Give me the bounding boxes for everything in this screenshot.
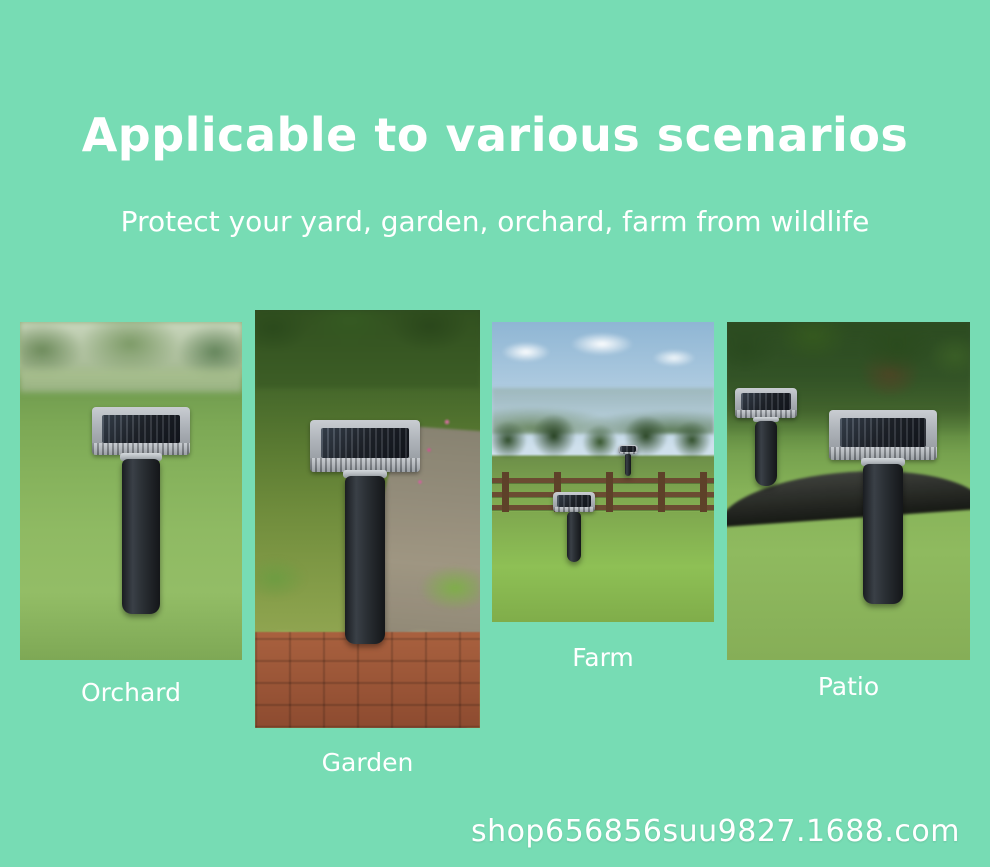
caption-orchard: Orchard [20, 678, 242, 707]
solar-repeller-device-far [618, 445, 638, 479]
solar-panel-head [618, 445, 638, 454]
solar-repeller-device [310, 420, 420, 670]
solar-panel-head [553, 492, 595, 512]
caption-garden: Garden [255, 748, 480, 777]
solar-cell [321, 428, 409, 458]
farm-paddock [492, 512, 714, 622]
farm-treeline [492, 408, 714, 466]
solar-cell [102, 415, 180, 443]
scenario-image-orchard [20, 322, 242, 660]
scenario-image-garden [255, 310, 480, 728]
caption-farm: Farm [492, 643, 714, 672]
solar-repeller-device-back [735, 388, 797, 518]
device-stake-body [625, 454, 631, 476]
fence-rail [492, 478, 714, 483]
garden-hedge [255, 310, 480, 388]
device-stake-body [863, 464, 903, 604]
scenario-image-patio [727, 322, 970, 660]
fence-post [502, 472, 509, 514]
device-stake-body [567, 512, 581, 562]
solar-repeller-device [92, 407, 190, 652]
page-subtitle: Protect your yard, garden, orchard, farm… [0, 205, 990, 239]
device-stake-body [755, 421, 777, 486]
fence-rail [492, 492, 714, 497]
solar-cell [741, 393, 791, 410]
fence-rail [492, 505, 714, 510]
solar-repeller-device-front [829, 410, 937, 640]
fence-post [658, 472, 665, 514]
device-stake-body [122, 459, 160, 614]
page-title: Applicable to various scenarios [0, 110, 990, 161]
solar-panel-head [92, 407, 190, 455]
fence-post [700, 472, 707, 514]
solar-cell [840, 418, 926, 447]
scenario-image-farm [492, 322, 714, 622]
farm-scene [492, 322, 714, 622]
device-stake-body [345, 476, 385, 644]
solar-panel-head [829, 410, 937, 460]
solar-panel-head [735, 388, 797, 418]
fence-post [606, 472, 613, 514]
solar-panel-head [310, 420, 420, 472]
solar-cell [557, 495, 591, 507]
caption-patio: Patio [727, 672, 970, 701]
shop-watermark: shop656856suu9827.1688.com [471, 814, 960, 849]
solar-repeller-device [553, 492, 595, 567]
farm-fence [492, 472, 714, 516]
